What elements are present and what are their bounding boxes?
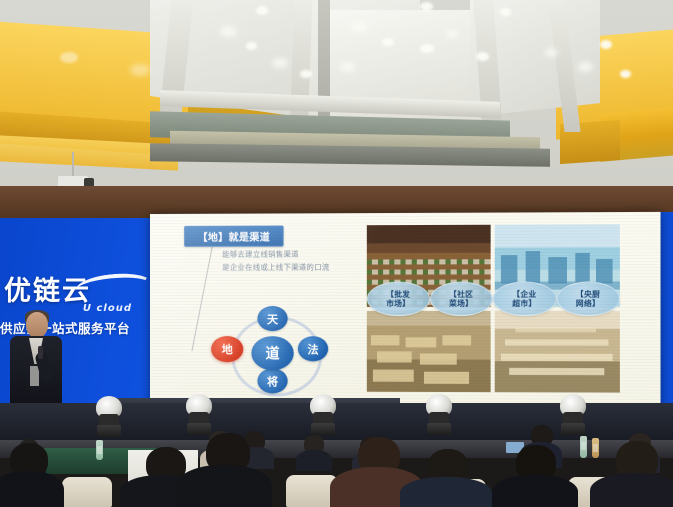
chip-line-2: 菜场】 xyxy=(449,299,473,308)
ballroom-ceiling xyxy=(0,0,673,205)
chip-line-2: 超市】 xyxy=(512,299,536,308)
ceiling-light-spot xyxy=(500,8,511,16)
chip-line-1: 【批发 xyxy=(386,290,410,299)
diagram-node-right: 法 xyxy=(298,336,328,361)
photo-supermarket-interior xyxy=(495,310,620,392)
projection-screen: 【地】就是渠道 能够去建立线销售渠道 是企业在线或上线下渠道的口流 天 法 将 … xyxy=(150,212,661,412)
ceiling-light-spot xyxy=(420,2,433,11)
diagram-node-bottom: 将 xyxy=(257,368,287,393)
chair-back xyxy=(62,477,112,507)
ceiling-light-spot xyxy=(600,40,612,49)
ceiling-light-spot xyxy=(300,70,312,78)
ceiling-light-spot xyxy=(446,30,458,38)
chip-line-1: 【企业 xyxy=(512,289,536,298)
slide-title-banner: 【地】就是渠道 xyxy=(184,226,284,247)
brand-logo: 优链云 U cloud xyxy=(4,278,150,314)
audience-member xyxy=(296,435,332,469)
ceiling-light-spot xyxy=(60,52,78,63)
water-bottle xyxy=(580,436,587,458)
slide-body-line: 是企业在线或上线下渠道的口流 xyxy=(222,261,384,274)
channel-chip: 【央厨 网络】 xyxy=(556,281,620,316)
diagram-node-left-highlight: 地 xyxy=(211,336,243,362)
water-bottle xyxy=(96,440,103,460)
audience-member xyxy=(176,433,272,507)
concept-diagram: 天 法 将 地 道 xyxy=(205,306,336,403)
ceiling-light-spot xyxy=(340,62,355,72)
ceiling-light-spot xyxy=(272,58,288,68)
slide-body-text: 能够去建立线销售渠道 是企业在线或上线下渠道的口流 xyxy=(222,248,384,274)
audience-member xyxy=(492,445,578,507)
chip-line-1: 【央厨 xyxy=(576,289,600,298)
conference-photo: 优链云 U cloud 供应链一站式服务平台 【地】就是渠道 能够去建立线销售渠… xyxy=(0,0,673,507)
ceiling-light-spot xyxy=(578,62,593,72)
audience-member xyxy=(400,449,492,507)
ceiling-light-spot xyxy=(620,70,631,78)
channel-chip: 【批发 市场】 xyxy=(367,282,430,316)
microphone-icon xyxy=(38,346,43,359)
ceiling-light-spot xyxy=(220,26,237,37)
chip-line-2: 网络】 xyxy=(576,299,600,308)
photo-wholesale-produce-market xyxy=(367,310,491,392)
chip-line-2: 市场】 xyxy=(386,299,410,308)
audience-member xyxy=(0,443,64,507)
audience-member xyxy=(590,441,673,507)
presenter-head xyxy=(26,312,48,338)
diagram-node-center: 道 xyxy=(251,336,293,370)
ceiling-light-spot xyxy=(130,64,150,76)
diagram-node-top: 天 xyxy=(257,306,287,331)
channel-chip-row: 【批发 市场】 【社区 菜场】 【企业 超市】 【央厨 网络】 xyxy=(367,281,620,316)
ceiling-light-spot xyxy=(256,6,268,15)
ceiling-light-spot xyxy=(246,42,257,50)
ceiling-light-spot xyxy=(476,52,489,61)
ceiling-light-spot xyxy=(420,44,434,53)
channel-chip: 【社区 菜场】 xyxy=(430,282,493,316)
ceiling-light-spot xyxy=(545,48,558,57)
ceiling-light-spot xyxy=(352,22,368,32)
slide-body-line: 能够去建立线销售渠道 xyxy=(222,248,384,261)
ceiling-light-spot xyxy=(382,38,394,46)
projector-mount-rod xyxy=(72,152,74,178)
channel-chip: 【企业 超市】 xyxy=(493,281,556,316)
chip-line-1: 【社区 xyxy=(449,289,473,298)
audience-area: 区 xyxy=(0,418,673,507)
